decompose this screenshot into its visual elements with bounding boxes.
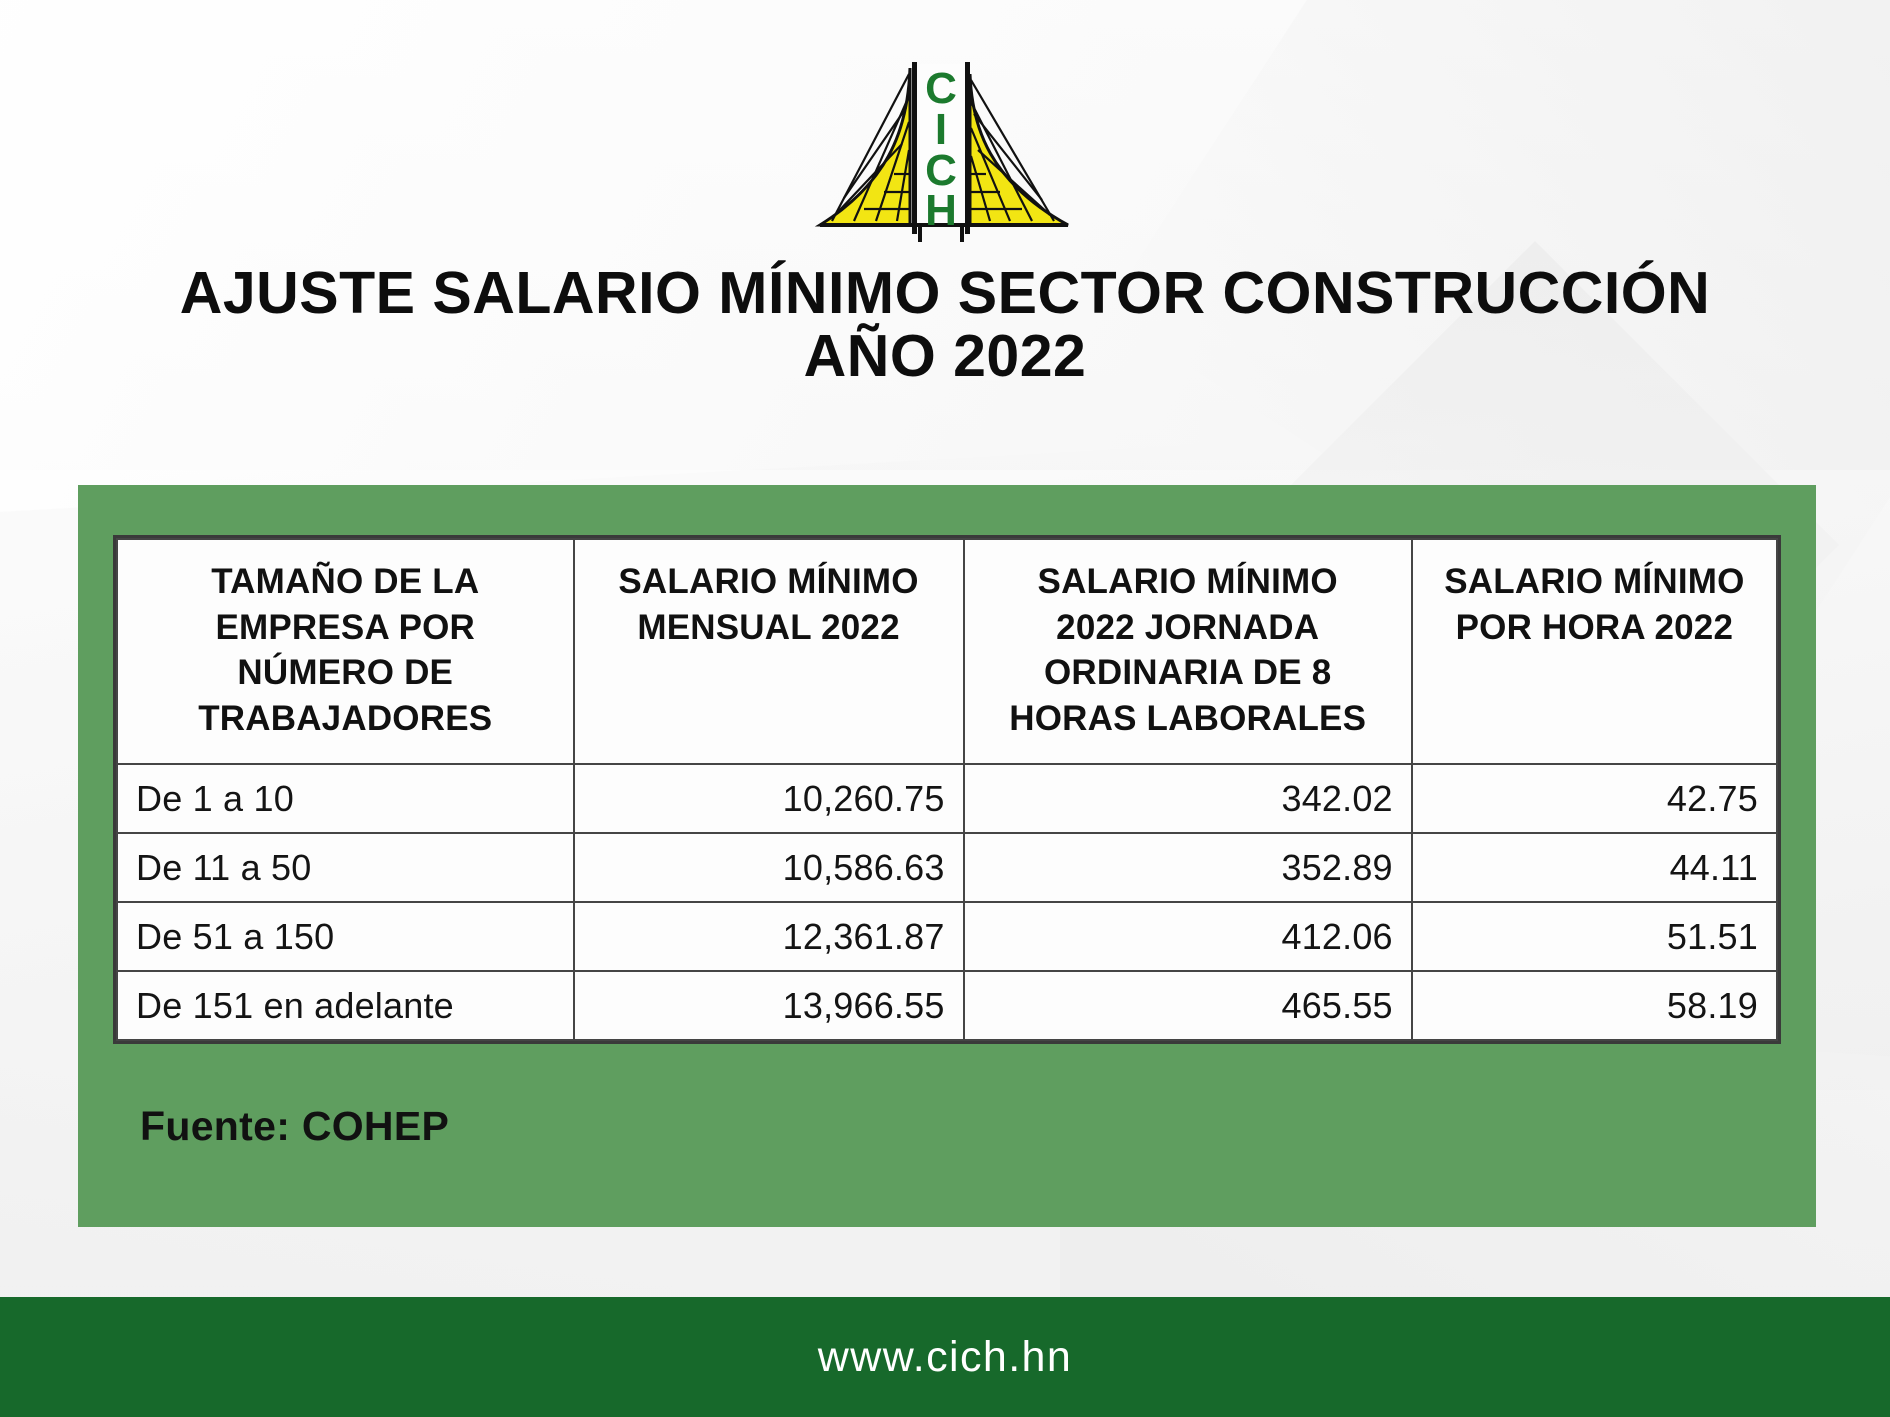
cell-por-hora: 58.19 [1412, 971, 1777, 1040]
table-row: De 151 en adelante 13,966.55 465.55 58.1… [117, 971, 1777, 1040]
cell-por-hora: 51.51 [1412, 902, 1777, 971]
column-header-por-hora: SALARIO MÍNIMO POR HORA 2022 [1412, 539, 1777, 764]
page-title-line-1: AJUSTE SALARIO MÍNIMO SECTOR CONSTRUCCIÓ… [70, 262, 1820, 325]
cell-mensual: 12,361.87 [574, 902, 964, 971]
brand-logo: C I C H [0, 62, 1890, 242]
table-header-row: TAMAÑO DE LA EMPRESA POR NÚMERO DE TRABA… [117, 539, 1777, 764]
cell-jornada: 342.02 [964, 764, 1412, 833]
table-row: De 1 a 10 10,260.75 342.02 42.75 [117, 764, 1777, 833]
cell-por-hora: 42.75 [1412, 764, 1777, 833]
page-title-line-2: AÑO 2022 [70, 325, 1820, 388]
footer-website-url[interactable]: www.cich.hn [818, 1333, 1072, 1382]
column-header-mensual: SALARIO MÍNIMO MENSUAL 2022 [574, 539, 964, 764]
cell-mensual: 13,966.55 [574, 971, 964, 1040]
column-header-jornada: SALARIO MÍNIMO 2022 JORNADA ORDINARIA DE… [964, 539, 1412, 764]
cell-mensual: 10,586.63 [574, 833, 964, 902]
cell-jornada: 465.55 [964, 971, 1412, 1040]
table-row: De 51 a 150 12,361.87 412.06 51.51 [117, 902, 1777, 971]
cell-por-hora: 44.11 [1412, 833, 1777, 902]
source-label: Fuente: COHEP [140, 1103, 449, 1150]
salary-table-container: TAMAÑO DE LA EMPRESA POR NÚMERO DE TRABA… [113, 535, 1781, 1044]
cell-empresa: De 51 a 150 [117, 902, 574, 971]
page-title: AJUSTE SALARIO MÍNIMO SECTOR CONSTRUCCIÓ… [0, 262, 1890, 387]
cell-jornada: 352.89 [964, 833, 1412, 902]
table-row: De 11 a 50 10,586.63 352.89 44.11 [117, 833, 1777, 902]
infographic-page: C I C H AJUSTE SALARIO MÍNIMO SECTOR CON… [0, 0, 1890, 1417]
cell-empresa: De 11 a 50 [117, 833, 574, 902]
svg-text:H: H [925, 186, 957, 235]
salary-table: TAMAÑO DE LA EMPRESA POR NÚMERO DE TRABA… [116, 538, 1778, 1041]
footer-bar: www.cich.hn [0, 1297, 1890, 1417]
cell-empresa: De 1 a 10 [117, 764, 574, 833]
column-header-empresa: TAMAÑO DE LA EMPRESA POR NÚMERO DE TRABA… [117, 539, 574, 764]
cell-mensual: 10,260.75 [574, 764, 964, 833]
cell-empresa: De 151 en adelante [117, 971, 574, 1040]
cell-jornada: 412.06 [964, 902, 1412, 971]
cich-tower-logo-icon: C I C H [814, 62, 1076, 242]
